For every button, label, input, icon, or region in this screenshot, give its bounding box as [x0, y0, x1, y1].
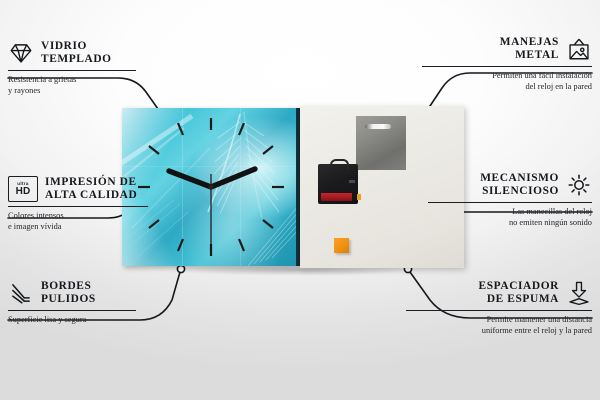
- feature-divider: [8, 206, 148, 207]
- product-image: [122, 108, 464, 268]
- foam-spacer-arrow-icon: [566, 280, 592, 306]
- feature-title: BORDESPULIDOS: [41, 280, 96, 307]
- feature-title: VIDRIOTEMPLADO: [41, 40, 112, 67]
- feature-description: Permiten una fácil instalación del reloj…: [422, 71, 592, 92]
- feature-divider: [422, 66, 592, 67]
- battery-tip: [357, 194, 361, 200]
- hanger-slot: [365, 124, 391, 129]
- feature-header: ESPACIADORDE ESPUMA: [406, 280, 592, 307]
- feature-divider: [8, 310, 136, 311]
- feature-espaciador-espuma: ESPACIADORDE ESPUMA Permite mantener una…: [406, 280, 592, 336]
- feature-manejas-metal: MANEJASMETAL Permiten una fácil instalac…: [422, 36, 592, 92]
- clock-mechanism: [318, 164, 358, 204]
- feature-description: Las manecillas del reloj no emiten ningú…: [428, 207, 592, 228]
- feature-title: IMPRESIÓN DEALTA CALIDAD: [45, 176, 137, 203]
- battery: [321, 193, 352, 201]
- feature-title: ESPACIADORDE ESPUMA: [479, 280, 559, 307]
- mechanism-loop: [330, 159, 349, 169]
- feature-description: Colores intensos e imagen vívida: [8, 211, 168, 232]
- feature-header: VIDRIOTEMPLADO: [8, 40, 158, 67]
- mechanism-detail: [349, 180, 355, 183]
- feature-description: Permite mantener una distancia uniforme …: [406, 315, 592, 336]
- ultra-hd-icon: ultra HD: [8, 176, 38, 202]
- ultra-hd-big-label: HD: [16, 187, 31, 197]
- feature-title: MECANISMOSILENCIOSO: [480, 172, 559, 199]
- foam-spacer: [334, 238, 349, 253]
- clock-hour-hand: [169, 171, 211, 187]
- feature-divider: [406, 310, 592, 311]
- diamond-icon: [8, 40, 34, 66]
- feature-header: MECANISMOSILENCIOSO: [428, 172, 592, 199]
- feature-header: MANEJASMETAL: [422, 36, 592, 63]
- clock-center-cap: [208, 184, 213, 189]
- feature-divider: [428, 202, 592, 203]
- feature-title: MANEJASMETAL: [500, 36, 559, 63]
- gear-icon: [566, 172, 592, 198]
- feature-vidrio-templado: VIDRIOTEMPLADO Resistencia a grietas y r…: [8, 40, 158, 96]
- feature-header: ultra HD IMPRESIÓN DEALTA CALIDAD: [8, 176, 168, 203]
- feature-header: BORDESPULIDOS: [8, 280, 158, 307]
- wall-hanger-frame-icon: [566, 36, 592, 62]
- feature-description: Superficie lisa y segura: [8, 315, 158, 326]
- infographic-canvas: VIDRIOTEMPLADO Resistencia a grietas y r…: [0, 0, 600, 400]
- metal-hanger: [356, 116, 406, 170]
- clock-minute-hand: [211, 169, 255, 187]
- feature-bordes-pulidos: BORDESPULIDOS Superficie lisa y segura: [8, 280, 158, 326]
- feature-description: Resistencia a grietas y rayones: [8, 75, 158, 96]
- feature-divider: [8, 70, 136, 71]
- feature-impresion-alta-calidad: ultra HD IMPRESIÓN DEALTA CALIDAD Colore…: [8, 176, 168, 232]
- polished-edges-icon: [8, 280, 34, 306]
- feature-mecanismo-silencioso: MECANISMOSILENCIOSO Las manecillas del r…: [428, 172, 592, 228]
